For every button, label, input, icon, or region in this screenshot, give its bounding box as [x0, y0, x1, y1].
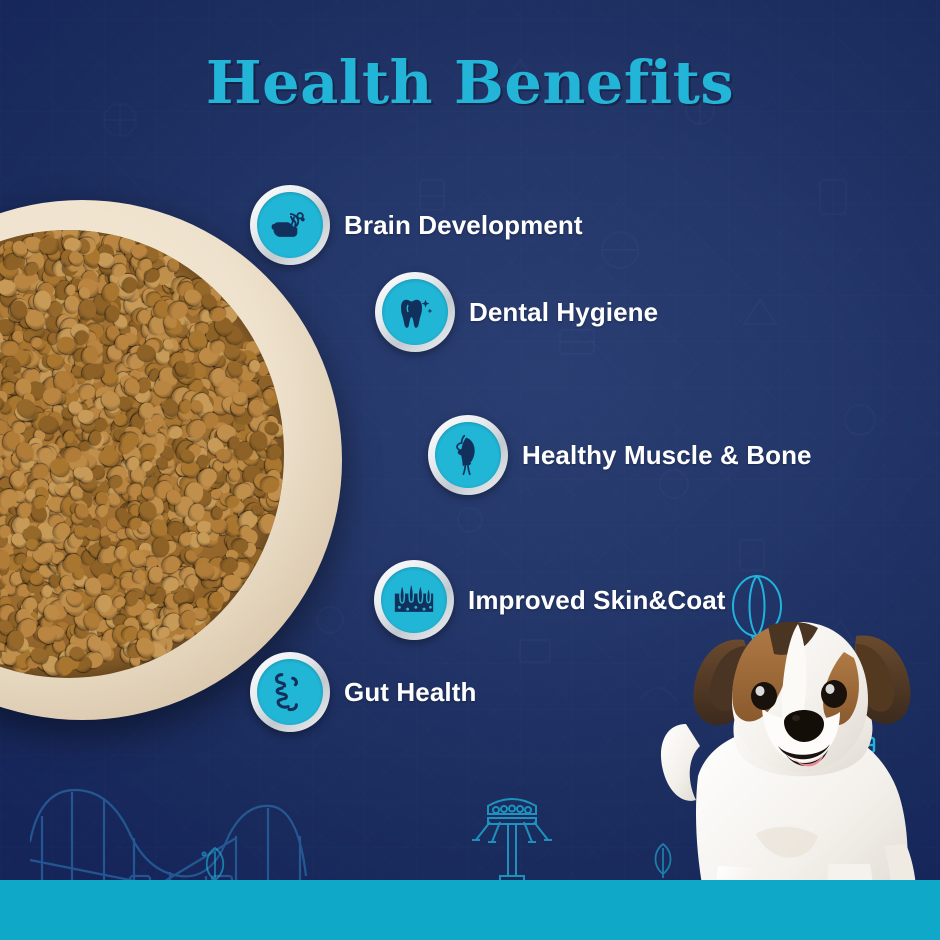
- benefit-item-brain-development[interactable]: Brain Development: [250, 185, 583, 265]
- hair-follicle-icon: [391, 579, 437, 621]
- benefit-item-gut-health[interactable]: Gut Health: [250, 652, 476, 732]
- muscle-bone-icon: [446, 432, 490, 478]
- dog-brain-icon: [268, 203, 312, 247]
- badge-improved-skin-coat: [374, 560, 454, 640]
- roller-coaster-lineart: [30, 772, 360, 890]
- tooth-sparkle-icon: [394, 291, 436, 333]
- health-benefits-poster: Health Benefits: [0, 0, 940, 940]
- badge-gut-health: [250, 652, 330, 732]
- benefit-label: Gut Health: [344, 677, 476, 708]
- benefit-label: Healthy Muscle & Bone: [522, 440, 812, 471]
- intestine-icon: [269, 670, 311, 714]
- benefit-label: Brain Development: [344, 210, 583, 241]
- benefit-item-healthy-muscle-bone[interactable]: Healthy Muscle & Bone: [428, 415, 812, 495]
- badge-brain-development: [250, 185, 330, 265]
- badge-dental-hygiene: [375, 272, 455, 352]
- bottom-accent-bar: [0, 880, 940, 940]
- benefit-item-dental-hygiene[interactable]: Dental Hygiene: [375, 272, 658, 352]
- dog-food-bowl-image: [0, 200, 342, 720]
- page-title: Health Benefits: [0, 48, 940, 117]
- swing-ride-lineart: [452, 782, 572, 886]
- badge-healthy-muscle-bone: [428, 415, 508, 495]
- benefit-label: Dental Hygiene: [469, 297, 658, 328]
